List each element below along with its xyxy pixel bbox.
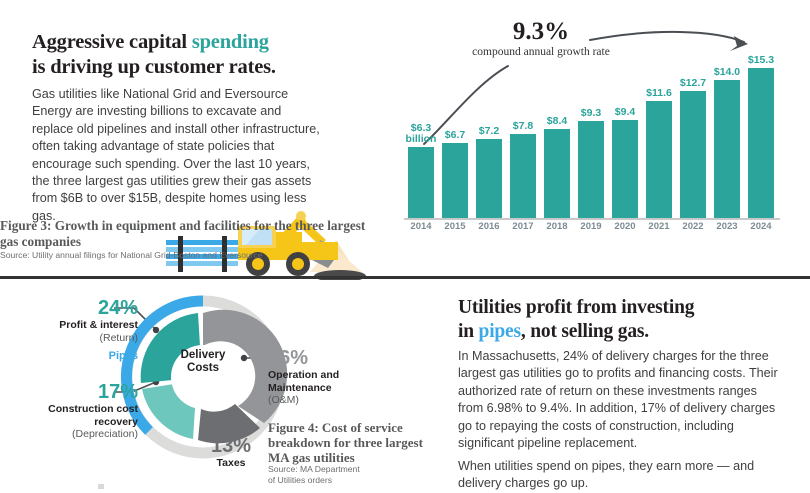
figure4-source: Source: MA Department of Utilities order… xyxy=(268,464,438,485)
donut-center-line2: Costs xyxy=(187,362,219,374)
x-axis-tick: 2014 xyxy=(404,221,438,232)
bar-value-label: $11.6 xyxy=(646,88,672,99)
figure4-source-line1: Source: MA Department xyxy=(268,464,360,474)
bar-column: $9.3 xyxy=(578,18,604,218)
callout-construction: 17% Construction cost recovery (Deprecia… xyxy=(10,382,138,441)
top-headline-line2: is driving up customer rates. xyxy=(32,56,276,78)
callout-om-value: 46% xyxy=(268,348,388,369)
bar-column: $11.6 xyxy=(646,18,672,218)
donut-center-line1: Delivery xyxy=(181,349,226,361)
bar-column: $7.2 xyxy=(476,18,502,218)
bar-column: $8.4 xyxy=(544,18,570,218)
bar-value-label: $9.3 xyxy=(581,108,601,119)
x-axis-tick: 2016 xyxy=(472,221,506,232)
bar-value-label: $12.7 xyxy=(680,78,706,89)
section-divider xyxy=(0,276,810,279)
callout-profit-sublabel: (Return) xyxy=(10,332,138,345)
x-axis-line xyxy=(404,218,780,220)
bar-rect xyxy=(544,129,570,219)
bar-rect xyxy=(680,91,706,218)
figure4-source-line2: of Utilities orders xyxy=(268,475,332,485)
figure4-title: Figure 4: Cost of service breakdown for … xyxy=(268,420,428,465)
bar-column: $12.7 xyxy=(680,18,706,218)
x-axis-tick: 2015 xyxy=(438,221,472,232)
figure3-title: Figure 3: Growth in equipment and facili… xyxy=(0,218,370,249)
bottom-body-paragraph-1: In Massachusetts, 24% of delivery charge… xyxy=(458,348,778,452)
bar-column: $15.3 xyxy=(748,18,774,218)
bar-rect xyxy=(510,134,536,218)
x-axis-tick: 2018 xyxy=(540,221,574,232)
donut-center-label: Delivery Costs xyxy=(168,349,238,375)
x-axis-tick: 2023 xyxy=(710,221,744,232)
infographic-page: Aggressive capital spending is driving u… xyxy=(0,0,810,493)
bar-value-label: $15.3 xyxy=(748,55,774,66)
bar-column: $6.3billion xyxy=(408,18,434,218)
callout-taxes: 13% Taxes xyxy=(196,436,266,470)
figure4-panel: Delivery Costs 24% Profit & interest (Re… xyxy=(10,292,440,492)
figure3-source: Source: Utility annual filings for Natio… xyxy=(0,250,396,260)
bar-rect xyxy=(612,120,638,218)
callout-om-label: Operation and Maintenance xyxy=(268,369,388,394)
bottom-headline-line2-c: , not selling gas. xyxy=(521,321,649,342)
x-axis-tick: 2024 xyxy=(744,221,778,232)
callout-om: 46% Operation and Maintenance (O&M) xyxy=(268,348,388,407)
page-speck xyxy=(98,484,104,489)
top-headline-highlight: spending xyxy=(192,31,269,53)
bar-column: $14.0 xyxy=(714,18,740,218)
bar-value-label: $14.0 xyxy=(714,67,740,78)
bottom-headline: Utilities profit from investing in pipes… xyxy=(458,296,798,344)
bar-value-label: $6.3billion xyxy=(406,123,437,145)
bar-value-label: $6.7 xyxy=(445,130,465,141)
bar-rect xyxy=(408,147,434,218)
bar-rect xyxy=(646,101,672,219)
callout-profit-value: 24% xyxy=(10,298,138,319)
bottom-headline-highlight: pipes xyxy=(479,321,521,342)
callout-taxes-value: 13% xyxy=(196,436,266,457)
x-axis-tick: 2017 xyxy=(506,221,540,232)
bottom-headline-line2-a: in xyxy=(458,321,479,342)
bar-plot-area: $6.3billion$6.7$7.2$7.8$8.4$9.3$9.4$11.6… xyxy=(404,40,800,218)
bar-rect xyxy=(442,143,468,218)
bar-rect xyxy=(748,68,774,218)
bar-value-label: $9.4 xyxy=(615,107,635,118)
figure3-panel: 9.3% compound annual growth rate $6.3bil… xyxy=(404,18,800,258)
top-headline: Aggressive capital spending is driving u… xyxy=(32,30,362,80)
callout-construction-sublabel: (Depreciation) xyxy=(10,428,138,441)
callout-profit-label: Profit & interest xyxy=(10,319,138,332)
callout-taxes-label: Taxes xyxy=(196,457,266,470)
x-axis-tick: 2019 xyxy=(574,221,608,232)
bar-value-label: $7.2 xyxy=(479,126,499,137)
x-axis-tick: 2021 xyxy=(642,221,676,232)
bar-column: $7.8 xyxy=(510,18,536,218)
x-axis-tick: 2022 xyxy=(676,221,710,232)
bar-value-label: $8.4 xyxy=(547,116,567,127)
callout-construction-label: Construction cost recovery xyxy=(10,403,138,428)
bar-value-label: $7.8 xyxy=(513,121,533,132)
x-axis-tick: 2020 xyxy=(608,221,642,232)
callout-pipes-ring: Pipes xyxy=(10,350,138,362)
bar-rect xyxy=(476,139,502,218)
callout-om-sublabel: (O&M) xyxy=(268,394,388,407)
bottom-headline-line1: Utilities profit from investing xyxy=(458,297,694,318)
top-headline-line1-a: Aggressive capital xyxy=(32,31,192,53)
callout-profit: 24% Profit & interest (Return) xyxy=(10,298,138,344)
bar-rect xyxy=(714,80,740,219)
callout-construction-value: 17% xyxy=(10,382,138,403)
bar-column: $9.4 xyxy=(612,18,638,218)
bottom-body-paragraph-2: When utilities spend on pipes, they earn… xyxy=(458,458,778,493)
bar-rect xyxy=(578,121,604,218)
bar-column: $6.7 xyxy=(442,18,468,218)
